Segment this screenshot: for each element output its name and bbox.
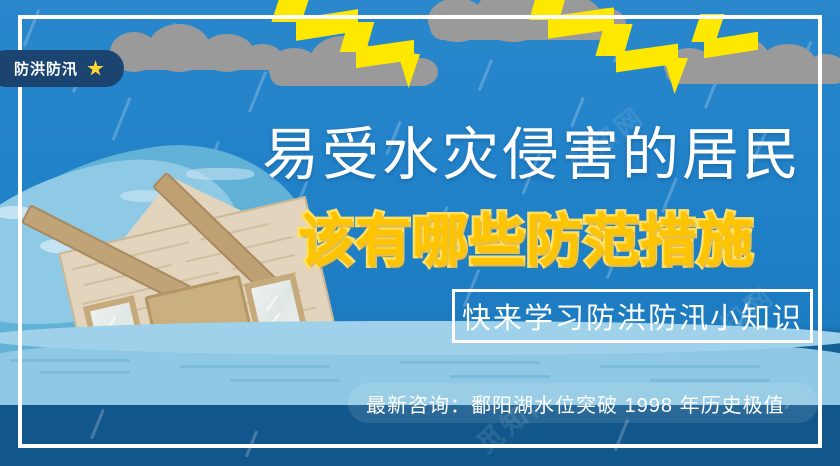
- news-text: 最新咨询：鄱阳湖水位突破 1998 年历史极值: [348, 389, 785, 418]
- star-icon: [87, 60, 104, 77]
- news-ticker: 最新咨询：鄱阳湖水位突破 1998 年历史极值: [348, 383, 818, 423]
- category-badge: 防洪防汛: [0, 50, 124, 87]
- cta-label: 快来学习防洪防汛小知识: [462, 295, 803, 337]
- page-title: 易受水灾侵害的居民: [262, 109, 802, 191]
- flood-safety-poster: 觅知网 觅知网 觅知网 觅知网: [0, 0, 840, 466]
- category-badge-label: 防洪防汛: [14, 58, 78, 79]
- page-subtitle: 该有哪些防范措施: [298, 196, 754, 277]
- cta-button[interactable]: 快来学习防洪防汛小知识: [452, 289, 813, 343]
